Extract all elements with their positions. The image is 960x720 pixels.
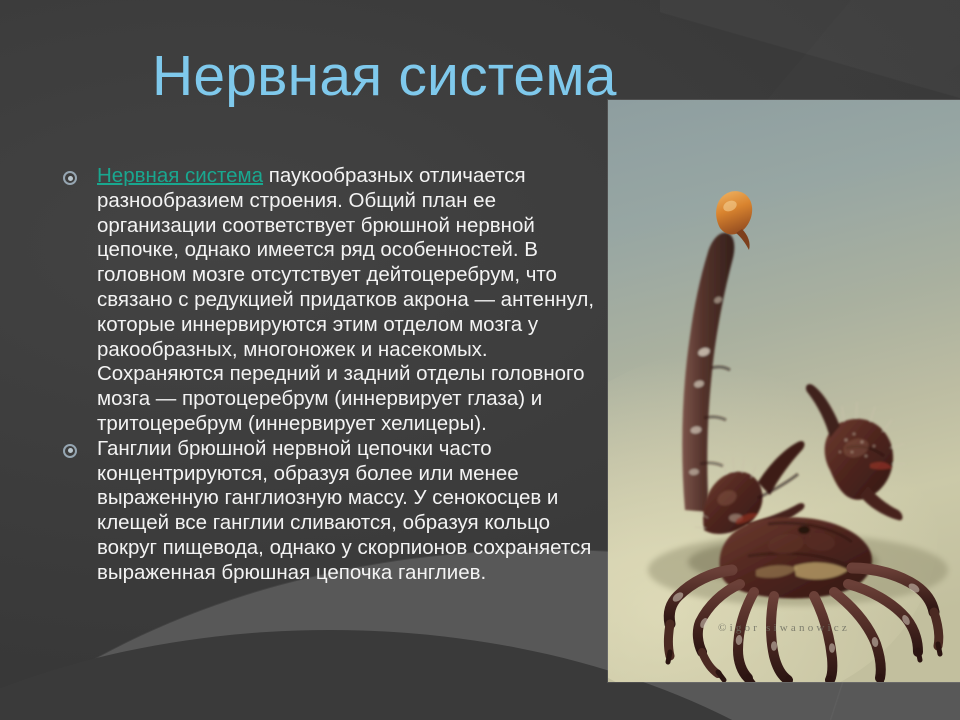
ring-dot-bullet-icon bbox=[63, 444, 77, 458]
scorpion-photo: ©igor siwanowicz bbox=[608, 100, 960, 682]
list-item: Ганглии брюшной нервной цепочки часто ко… bbox=[55, 437, 605, 586]
bullet-paragraph-1: Нервная система паукообразных отличается… bbox=[77, 164, 605, 437]
bullet-paragraph-2-text: Ганглии брюшной нервной цепочки часто ко… bbox=[97, 437, 591, 584]
bullet-paragraph-2: Ганглии брюшной нервной цепочки часто ко… bbox=[77, 437, 605, 586]
bullet-paragraph-1-text: паукообразных отличается разнообразием с… bbox=[97, 164, 594, 435]
scorpion-illustration bbox=[608, 100, 960, 682]
hyperlink-nervous-system[interactable]: Нервная система bbox=[97, 164, 263, 187]
list-item: Нервная система паукообразных отличается… bbox=[55, 164, 605, 437]
ring-dot-bullet-icon bbox=[63, 171, 77, 185]
presentation-slide: Нервная система Нервная система паукообр… bbox=[0, 0, 960, 720]
slide-body: Нервная система паукообразных отличается… bbox=[55, 164, 605, 586]
slide-title: Нервная система bbox=[152, 47, 617, 107]
